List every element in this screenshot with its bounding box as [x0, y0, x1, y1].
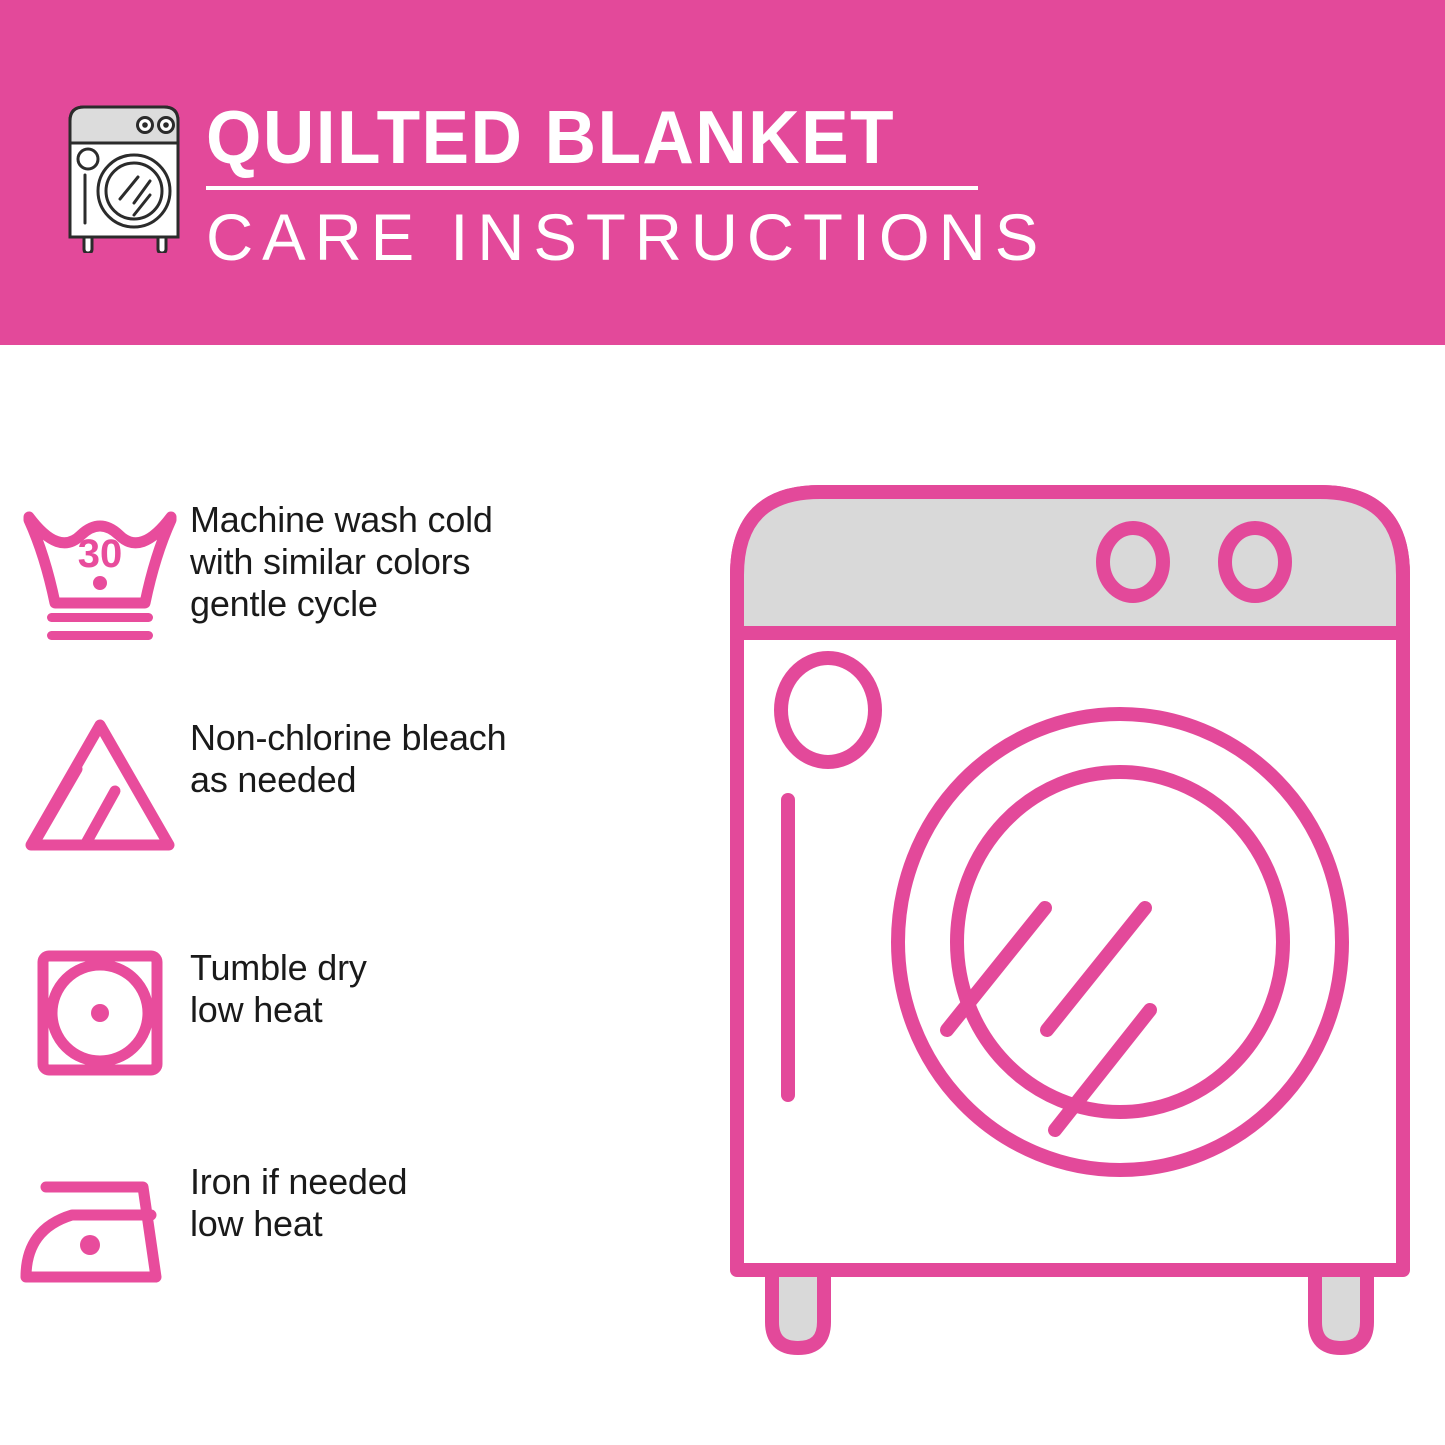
list-item-text: Tumble dry low heat: [190, 943, 367, 1031]
list-item-text: Iron if needed low heat: [190, 1157, 407, 1245]
svg-text:30: 30: [78, 532, 123, 576]
list-item-text: Machine wash cold with similar colors ge…: [190, 495, 493, 625]
front-load-washing-machine-illustration: [715, 470, 1425, 1370]
list-item: 30 Machine wash cold with similar colors…: [0, 495, 700, 645]
header-banner: QUILTED BLANKET CARE INSTRUCTIONS: [0, 0, 1445, 345]
page-subtitle: CARE INSTRUCTIONS: [206, 202, 988, 272]
instruction-line: Tumble dry: [190, 947, 367, 989]
wash-tub-30-gentle-icon: 30: [0, 495, 190, 645]
washing-machine-icon: [58, 103, 190, 253]
instruction-line: low heat: [190, 1203, 407, 1245]
page-title: QUILTED BLANKET: [206, 98, 957, 176]
instruction-line: as needed: [190, 759, 506, 801]
iron-low-heat-icon: [0, 1157, 190, 1307]
list-item: Non-chlorine bleach as needed: [0, 713, 700, 863]
non-chlorine-bleach-triangle-icon: [0, 713, 190, 863]
list-item-text: Non-chlorine bleach as needed: [190, 713, 506, 801]
header-title-group: QUILTED BLANKET CARE INSTRUCTIONS: [206, 98, 996, 272]
instruction-line: with similar colors: [190, 541, 493, 583]
tumble-dry-low-icon: [0, 943, 190, 1093]
list-item: Tumble dry low heat: [0, 943, 700, 1093]
instruction-line: Non-chlorine bleach: [190, 717, 506, 759]
instruction-line: Machine wash cold: [190, 499, 493, 541]
title-divider: [206, 186, 978, 190]
instruction-line: low heat: [190, 989, 367, 1031]
list-item: Iron if needed low heat: [0, 1157, 700, 1307]
instruction-line: gentle cycle: [190, 583, 493, 625]
instruction-line: Iron if needed: [190, 1161, 407, 1203]
care-instruction-list: 30 Machine wash cold with similar colors…: [0, 345, 700, 1445]
